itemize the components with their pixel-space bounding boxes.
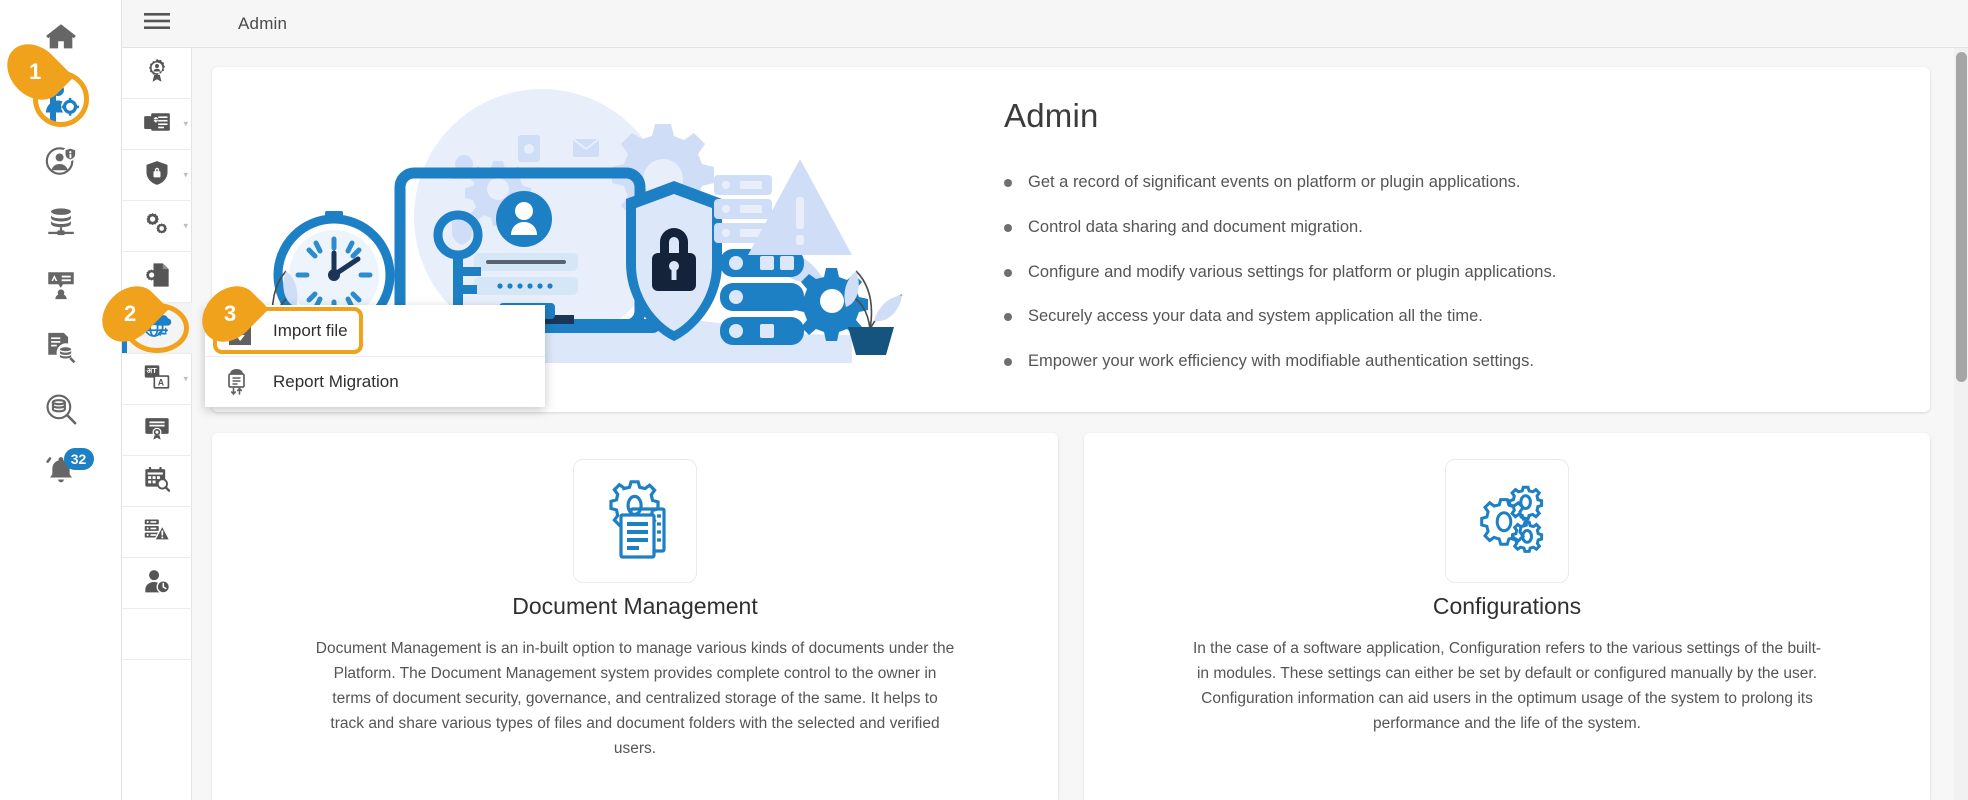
secondary-rail-item-audit-user[interactable] [122,48,192,99]
dropdown-item-label: Import file [273,321,348,341]
three-gears-icon [1445,459,1569,583]
annotation-marker-3: 3 [199,290,261,338]
page-title: Admin [238,14,287,34]
document-database-search-icon [44,330,78,364]
primary-rail-item-data-network[interactable] [0,192,122,254]
hero-bullet: Get a record of significant events on pl… [1004,173,1910,193]
primary-rail-item-db-search[interactable] [0,378,122,440]
invoice-icon [143,108,171,141]
card-configurations[interactable]: Configurations In the case of a software… [1084,433,1930,800]
svg-text:अT: अT [147,366,158,375]
feature-cards-row: Document Management Document Management … [212,433,1930,800]
chevron-down-icon: ▾ [183,120,188,129]
chevron-down-icon: ▾ [183,222,188,231]
secondary-rail-item-certificates[interactable] [122,405,192,456]
secondary-rail-item-translation[interactable]: अT A ▾ [122,354,192,405]
secondary-rail-item-empty [122,609,192,660]
page-scrollbar-thumb[interactable] [1956,52,1967,382]
card-title: Configurations [1124,593,1890,620]
dropdown-item-label: Report Migration [273,372,399,392]
hero-text-block: Admin Get a record of significant events… [912,67,1930,412]
card-document-management[interactable]: Document Management Document Management … [212,433,1058,800]
documents-gear-icon [573,459,697,583]
primary-rail-item-user-security[interactable] [0,130,122,192]
primary-navigation-rail: 32 [0,0,122,800]
translate-icon: अT A [143,363,171,396]
main-content-area: Admin Get a record of significant events… [192,48,1968,800]
card-title: Document Management [252,593,1018,620]
primary-rail-item-notifications[interactable]: 32 [0,440,122,502]
server-warning-icon [143,516,171,549]
annotation-marker-2: 2 [99,290,161,338]
dropdown-item-report-migration[interactable]: Report Migration [205,356,545,407]
secondary-rail-item-settings[interactable]: ▾ [122,201,192,252]
chevron-down-icon: ▾ [183,375,188,384]
hero-bullet: Configure and modify various settings fo… [1004,263,1910,283]
gear-user-badge-icon [143,57,171,90]
secondary-rail-item-security[interactable]: ▾ [122,150,192,201]
card-description: In the case of a software application, C… [1187,636,1827,736]
secondary-navigation-rail: ▾ ▾ ▾ [122,0,192,800]
chevron-down-icon: ▾ [183,171,188,180]
database-network-icon [44,206,78,240]
user-chat-icon [44,268,78,302]
annotation-marker-1: 1 [4,48,66,96]
notification-badge: 32 [64,448,94,470]
chevron-down-icon: ▾ [183,324,188,333]
hero-bullet: Securely access your data and system app… [1004,307,1910,327]
card-description: Document Management is an in-built optio… [315,636,955,762]
hero-bullet-list: Get a record of significant events on pl… [1004,173,1910,372]
calendar-search-icon [143,465,171,498]
certificate-icon [143,414,171,447]
secondary-rail-item-user-history[interactable] [122,558,192,609]
svg-text:A: A [158,377,165,387]
top-header-bar: Admin [192,0,1968,48]
hamburger-menu-button[interactable] [122,0,192,48]
user-shield-icon [44,144,78,178]
secondary-rail-item-billing[interactable]: ▾ [122,99,192,150]
shield-lock-icon [143,159,171,192]
gears-icon [143,210,171,243]
database-magnifier-icon [44,392,78,426]
hero-title: Admin [1004,97,1910,135]
user-clock-icon [143,567,171,600]
hamburger-icon [144,11,170,36]
hero-bullet: Empower your work efficiency with modifi… [1004,352,1910,372]
report-migration-icon [227,367,263,397]
secondary-rail-item-server-alerts[interactable] [122,507,192,558]
secondary-rail-item-scheduler[interactable] [122,456,192,507]
hero-bullet: Control data sharing and document migrat… [1004,218,1910,238]
